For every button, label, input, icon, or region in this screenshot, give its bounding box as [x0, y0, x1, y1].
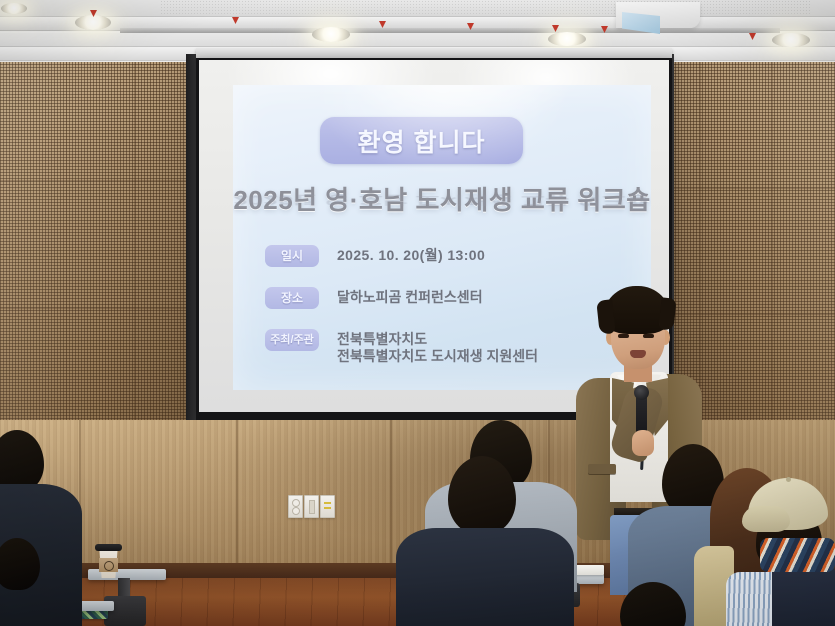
welcome-badge-label: 환영 합니다: [358, 123, 486, 159]
slide-value-organizer-line2: 전북특별자치도 도시재생 지원센터: [337, 348, 538, 365]
slide-info-row-datetime: 일시 2025. 10. 20(월) 13:00: [265, 245, 635, 267]
slide-badge-organizer: 주최/주관: [265, 329, 319, 351]
slide-value-datetime: 2025. 10. 20(월) 13:00: [337, 245, 485, 264]
power-outlet[interactable]: [288, 495, 303, 518]
presenter-hair-side-right: [658, 297, 676, 330]
control-panel[interactable]: [320, 495, 335, 518]
conference-room-photo: 환영 합니다 2025년 영·호남 도시재생 교류 워크숍 2025년 영·호남…: [0, 0, 835, 626]
presenter-jacket-pocket: [588, 464, 616, 474]
welcome-badge: 환영 합니다: [320, 117, 523, 164]
presenter-eye-left: [618, 334, 629, 338]
presenter-hair-side-left: [596, 299, 615, 334]
slide-badge-datetime: 일시: [265, 245, 319, 267]
ceiling-downlight: [548, 32, 586, 46]
presenter-hand: [632, 430, 654, 456]
acoustic-wall-panel-left: [0, 62, 196, 432]
slide-value-organizer: 전북특별자치도 전북특별자치도 도시재생 지원센터: [337, 329, 538, 365]
light-switch[interactable]: [304, 495, 319, 518]
patterned-scarf: [760, 538, 835, 572]
slide-value-venue: 달하노피곰 컨퍼런스센터: [337, 287, 483, 306]
presenter-mouth: [630, 350, 646, 358]
ceiling-downlight: [1, 3, 27, 14]
ceiling-downlight: [75, 15, 111, 30]
baseball-cap-brim: [742, 506, 790, 532]
slide-badge-venue: 장소: [265, 287, 319, 309]
ceiling-downlight: [312, 27, 350, 42]
slide-value-organizer-line1: 전북특별자치도: [337, 331, 538, 348]
microphone-head: [634, 385, 649, 400]
presenter-eye-right: [643, 334, 654, 338]
baseball-cap-button: [786, 477, 791, 482]
coffee-cup-lid: [95, 544, 122, 551]
slide-title: 2025년 영·호남 도시재생 교류 워크숍: [233, 180, 651, 217]
coffee-cup-logo: [104, 561, 114, 571]
ceiling-downlight: [772, 33, 810, 47]
